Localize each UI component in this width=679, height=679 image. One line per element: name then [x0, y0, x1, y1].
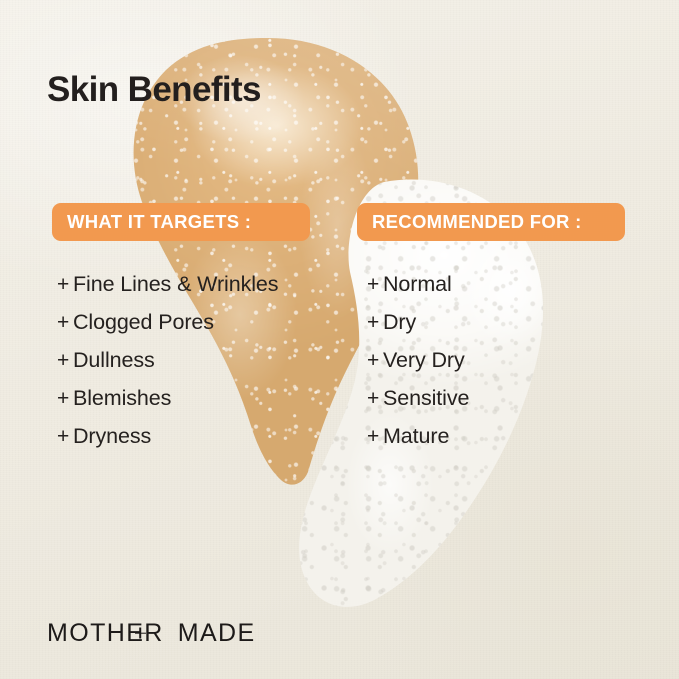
section-header-targets: WHAT IT TARGETS :	[52, 203, 310, 241]
list-item: + Mature	[367, 424, 469, 462]
content-layer: Skin Benefits WHAT IT TARGETS : RECOMMEN…	[0, 0, 679, 679]
list-item: + Dullness	[57, 348, 278, 386]
list-item-label: Very Dry	[383, 348, 465, 373]
plus-icon: +	[367, 273, 383, 297]
recommended-list: + Normal + Dry + Very Dry + Sensitive + …	[367, 272, 469, 462]
list-item: + Dry	[367, 310, 469, 348]
section-header-recommended-label: RECOMMENDED FOR :	[372, 211, 582, 233]
plus-icon: +	[57, 425, 73, 449]
list-item-label: Dry	[383, 310, 416, 335]
plus-icon: +	[367, 349, 383, 373]
list-item-label: Normal	[383, 272, 452, 297]
targets-list: + Fine Lines & Wrinkles + Clogged Pores …	[57, 272, 278, 462]
list-item-label: Dullness	[73, 348, 155, 373]
page-title: Skin Benefits	[47, 70, 261, 110]
list-item-label: Clogged Pores	[73, 310, 214, 335]
plus-icon: +	[367, 425, 383, 449]
list-item-label: Mature	[383, 424, 449, 449]
list-item-label: Dryness	[73, 424, 151, 449]
list-item-label: Sensitive	[383, 386, 469, 411]
product-benefits-graphic: Skin Benefits WHAT IT TARGETS : RECOMMEN…	[0, 0, 679, 679]
section-header-targets-label: WHAT IT TARGETS :	[67, 211, 251, 233]
brand-word-made: MADE	[178, 621, 256, 646]
brand-word-mother: MOTHER	[47, 621, 164, 646]
plus-icon: +	[57, 273, 73, 297]
list-item: + Clogged Pores	[57, 310, 278, 348]
brand-logo: MOTHER MADE	[47, 618, 256, 648]
plus-icon: +	[57, 311, 73, 335]
plus-icon: +	[367, 387, 383, 411]
list-item: + Fine Lines & Wrinkles	[57, 272, 278, 310]
list-item: + Blemishes	[57, 386, 278, 424]
brand-word-mother-text: MOTHER	[47, 619, 164, 647]
list-item: + Sensitive	[367, 386, 469, 424]
plus-icon: +	[57, 387, 73, 411]
list-item-label: Blemishes	[73, 386, 171, 411]
list-item: + Very Dry	[367, 348, 469, 386]
list-item: + Normal	[367, 272, 469, 310]
section-header-recommended: RECOMMENDED FOR :	[357, 203, 625, 241]
list-item: + Dryness	[57, 424, 278, 462]
plus-icon: +	[57, 349, 73, 373]
list-item-label: Fine Lines & Wrinkles	[73, 272, 278, 297]
plus-icon: +	[367, 311, 383, 335]
